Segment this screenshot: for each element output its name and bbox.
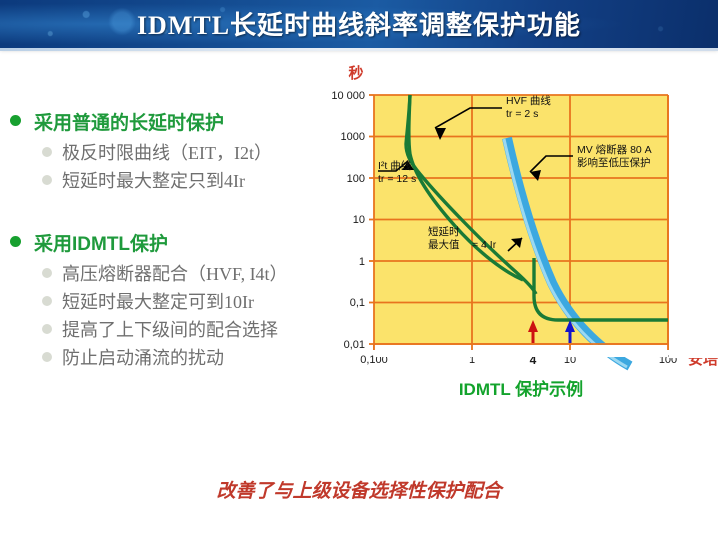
bullet-text: 极反时限曲线（EIT，I2t） <box>62 143 272 163</box>
bullet-text: 短延时最大整定可到10Ir <box>62 292 254 312</box>
annotation-line1: MV 熔断器 80 A <box>577 143 652 156</box>
banner-underline <box>0 48 718 51</box>
y-tick-label: 1000 <box>341 131 365 143</box>
bullet-list: 采用普通的长延时保护 极反时限曲线（EIT，I2t） 短延时最大整定只到4Ir … <box>0 108 360 372</box>
bullet-level1-item: 采用普通的长延时保护 <box>0 108 360 135</box>
annotation-line2: 影响至低压保护 <box>577 156 651 169</box>
annotation-line3: = 4 Ir <box>472 239 497 251</box>
y-tick-label: 100 <box>347 173 365 185</box>
y-tick-label: 0,1 <box>350 297 365 309</box>
bullet-level2-item: 防止启动涌流的扰动 <box>0 344 360 370</box>
summary-note: 改善了与上级设备选择性保护配合 <box>0 476 718 503</box>
y-tick-label: 10 <box>353 214 365 226</box>
bullet-text: 短延时最大整定只到4Ir <box>62 171 245 191</box>
y-axis-unit-label: 秒 <box>348 64 363 82</box>
bullet-level2-item: 短延时最大整定只到4Ir <box>0 167 360 193</box>
sub-bullet-dot-icon <box>42 175 52 185</box>
bullet-text: 提高了上下级间的配合选择 <box>62 320 278 340</box>
annotation-line2: 最大值 <box>428 238 460 251</box>
bullet-level2-item: 极反时限曲线（EIT，I2t） <box>0 139 360 165</box>
bullet-level2-item: 提高了上下级间的配合选择 <box>0 316 360 342</box>
y-tick-label: 0,01 <box>344 339 365 351</box>
y-tick-label: 1 <box>359 256 365 268</box>
sub-bullet-dot-icon <box>42 296 52 306</box>
annotation-line2: tr = 12 s <box>378 173 416 185</box>
annotation-line2: tr = 2 s <box>506 108 538 120</box>
bullet-dot-icon <box>10 115 21 126</box>
annotation-line1: HVF 曲线 <box>506 94 551 107</box>
bullet-dot-icon <box>10 236 21 247</box>
bullet-text: 采用普通的长延时保护 <box>34 113 224 134</box>
y-tick-label: 10 000 <box>331 90 365 102</box>
sub-bullet-dot-icon <box>42 268 52 278</box>
plot-clip-bottom <box>374 345 668 357</box>
bullet-text: 采用IDMTL保护 <box>34 234 168 255</box>
idmtl-protection-chart: 10 000 1000 100 10 1 0,1 0,01 秒 0,100 1 … <box>330 58 718 408</box>
bullet-text: 高压熔断器配合（HVF, I4t） <box>62 264 288 284</box>
bullet-text: 防止启动涌流的扰动 <box>62 348 224 368</box>
annotation-line1: 短延时 <box>428 225 460 238</box>
plot-clip-right <box>669 88 718 358</box>
sub-bullet-dot-icon <box>42 352 52 362</box>
sub-bullet-dot-icon <box>42 147 52 157</box>
bullet-group-spacer <box>0 195 360 229</box>
bullet-level1-item: 采用IDMTL保护 <box>0 229 360 256</box>
page-title: IDMTL长延时曲线斜率调整保护功能 <box>0 5 718 42</box>
chart-caption: IDMTL 保护示例 <box>459 379 583 399</box>
annotation-line1: I²t 曲线 <box>378 159 412 172</box>
bullet-level2-item: 高压熔断器配合（HVF, I4t） <box>0 260 360 286</box>
bullet-level2-item: 短延时最大整定可到10Ir <box>0 288 360 314</box>
sub-bullet-dot-icon <box>42 324 52 334</box>
